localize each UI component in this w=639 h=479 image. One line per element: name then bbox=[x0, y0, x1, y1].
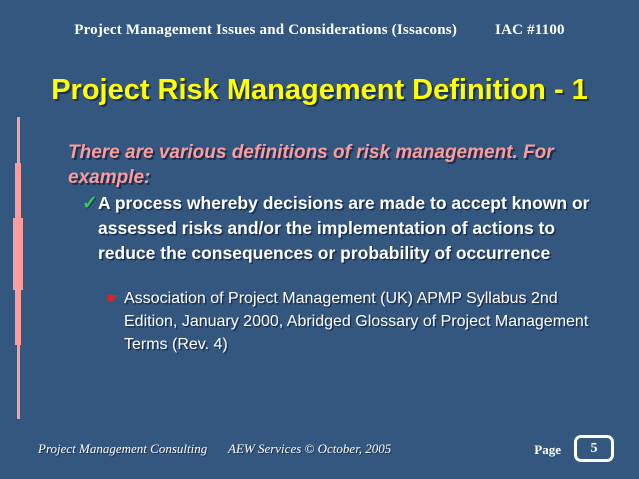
slide-header: Project Management Issues and Considerat… bbox=[0, 22, 639, 39]
decorative-accent-bar-segment bbox=[17, 117, 20, 163]
bullet-level1: ✓ A process whereby decisions are made t… bbox=[82, 191, 602, 266]
slide: Project Management Issues and Considerat… bbox=[0, 0, 639, 479]
bullet-level1-text: A process whereby decisions are made to … bbox=[98, 191, 602, 266]
pointing-hand-icon: ☛ bbox=[106, 287, 124, 310]
slide-footer: Project Management Consulting AEW Servic… bbox=[0, 427, 639, 479]
header-issacon-code: IAC #1100 bbox=[495, 22, 565, 38]
footer-company: Project Management Consulting bbox=[38, 441, 207, 457]
decorative-accent-bar-segment bbox=[15, 163, 21, 218]
footer-page-number: 5 bbox=[574, 435, 614, 462]
decorative-accent-bar-segment bbox=[17, 345, 20, 419]
decorative-accent-bar-segment bbox=[13, 218, 23, 290]
header-series-title: Project Management Issues and Considerat… bbox=[74, 22, 457, 38]
footer-copyright: AEW Services © October, 2005 bbox=[228, 441, 391, 457]
footer-page-label: Page bbox=[534, 442, 561, 458]
page-title: Project Risk Management Definition - 1 bbox=[0, 74, 639, 107]
intro-text: There are various definitions of risk ma… bbox=[68, 140, 598, 190]
check-icon: ✓ bbox=[82, 191, 98, 216]
decorative-accent-bar-segment bbox=[15, 290, 21, 345]
bullet-level2: ☛ Association of Project Management (UK)… bbox=[106, 287, 606, 356]
bullet-level2-text: Association of Project Management (UK) A… bbox=[124, 287, 606, 356]
